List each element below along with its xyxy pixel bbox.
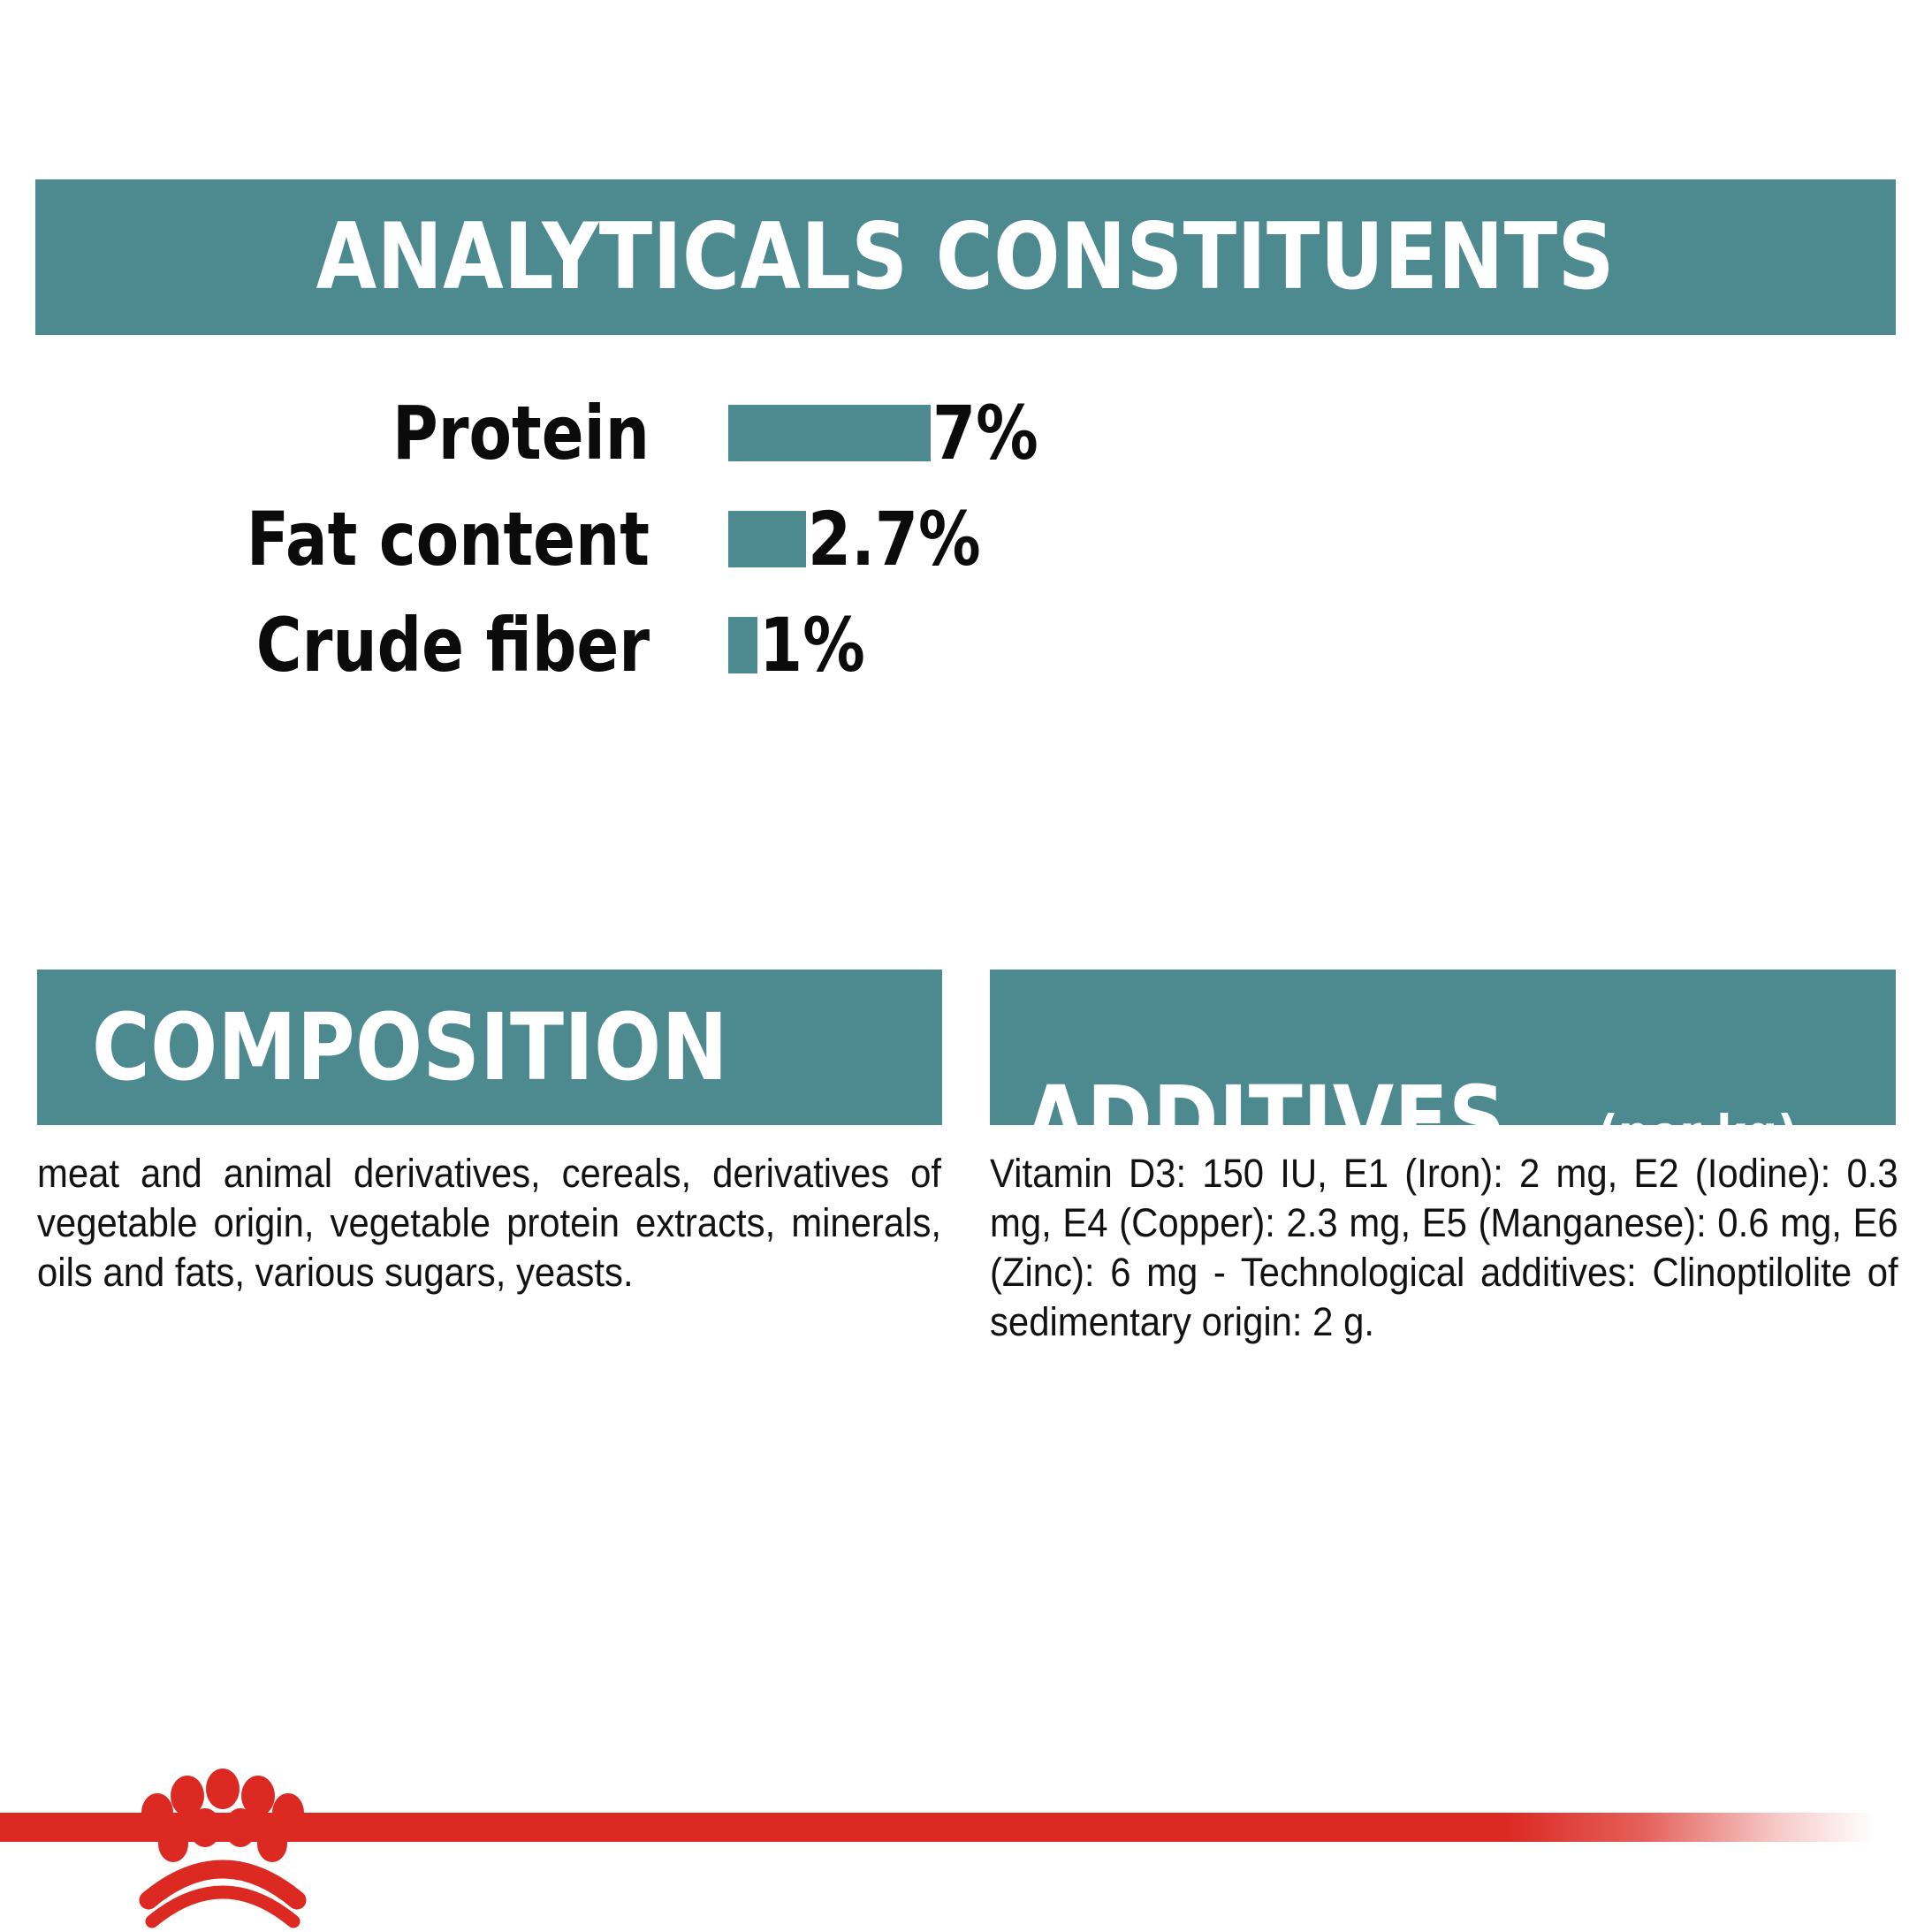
nutrient-row-fat-content: Fat content 2.7% — [0, 486, 1061, 592]
royal-canin-crown-icon — [124, 1734, 322, 1932]
analyticals-chart: Protein 7% Fat content 2.7% Crude fiber … — [0, 380, 1061, 698]
nutrient-row-protein: Protein 7% — [0, 380, 1061, 486]
nutrient-bar-group: 7% — [728, 396, 1059, 470]
composition-header-band: COMPOSITION — [37, 970, 942, 1125]
nutrient-bar — [728, 405, 931, 461]
nutrient-bar — [728, 511, 806, 567]
analyticals-header-band: ANALYTICALS CONSTITUENTS — [35, 179, 1896, 335]
nutrient-value: 1% — [759, 608, 865, 682]
nutrient-label: Crude fiber — [104, 608, 650, 682]
nutrient-bar-group: 2.7% — [728, 502, 1014, 576]
nutrient-label: Fat content — [104, 502, 650, 576]
nutrient-value: 7% — [932, 396, 1038, 470]
nutrient-bar — [728, 617, 757, 673]
composition-body-text: meat and animal derivatives, cereals, de… — [37, 1149, 941, 1297]
nutrient-label: Protein — [104, 396, 650, 470]
additives-header-band: ADDITIVES (per kg) — [990, 970, 1896, 1125]
nutrient-value: 2.7% — [808, 502, 981, 576]
additives-body-text: Vitamin D3: 150 IU, E1 (Iron): 2 mg, E2 … — [990, 1149, 1898, 1347]
nutrient-row-crude-fiber: Crude fiber 1% — [0, 592, 1061, 698]
analyticals-header-title: ANALYTICALS CONSTITUENTS — [316, 212, 1615, 303]
nutrient-bar-group: 1% — [728, 608, 886, 682]
composition-header-title: COMPOSITION — [92, 1001, 728, 1093]
